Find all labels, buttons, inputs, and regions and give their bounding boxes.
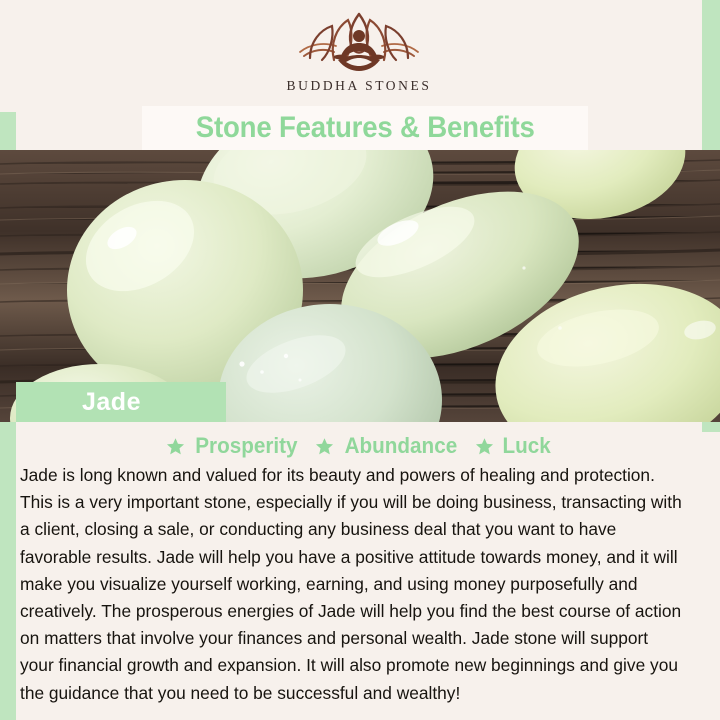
benefit-item-abundance: Abundance [315, 433, 461, 459]
benefit-label: Luck [502, 433, 550, 459]
frame-strip-bottom-left [0, 688, 16, 720]
brand-header: BUDDHA STONES [16, 0, 702, 112]
page-title: Stone Features & Benefits [196, 111, 535, 145]
star-icon [315, 437, 334, 456]
brand-wordmark: BUDDHA STONES [287, 78, 432, 94]
title-banner: Stone Features & Benefits [142, 106, 588, 150]
star-icon [166, 437, 185, 456]
benefit-label: Prosperity [195, 433, 297, 459]
description-text: Jade is long known and valued for its be… [20, 462, 686, 707]
benefit-item-prosperity: Prosperity [166, 433, 301, 459]
stone-name-band: Jade [16, 382, 226, 422]
lotus-meditation-icon [294, 12, 424, 76]
benefit-label: Abundance [344, 433, 457, 459]
benefits-row: Prosperity Abundance Luck [16, 430, 702, 462]
benefit-item-luck: Luck [475, 433, 552, 459]
star-icon [475, 437, 494, 456]
stone-name-label: Jade [82, 388, 141, 417]
description-block: Jade is long known and valued for its be… [16, 462, 704, 707]
